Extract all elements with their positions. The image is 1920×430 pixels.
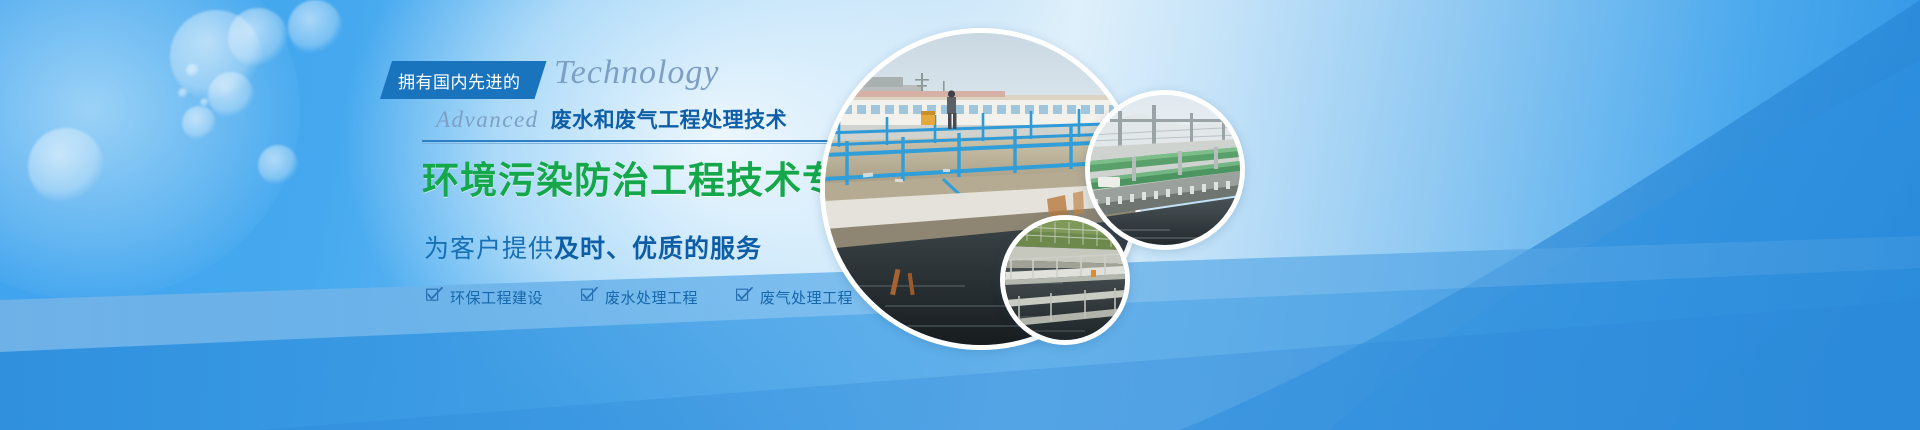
page-title: 环境污染防治工程技术专业顾问: [422, 150, 842, 204]
sub-headline-strong: 及时、优质的服务: [554, 235, 762, 263]
feature-list: 环保工程建设 废水处理工程 废气处理工程: [426, 287, 842, 308]
tagline-row: 拥有国内先进的 Technology: [372, 58, 842, 102]
photo-aeration-basin: [1000, 215, 1130, 345]
hero-banner: 拥有国内先进的 Technology Advanced 废水和废气工程处理技术 …: [0, 0, 1920, 430]
tagline-label: 拥有国内先进的: [398, 68, 521, 93]
technology-script-word: Technology: [554, 54, 720, 92]
advanced-script-word: Advanced: [436, 107, 539, 133]
list-item[interactable]: 废水处理工程: [581, 287, 698, 308]
divider: [422, 140, 842, 144]
banner-text-block: 拥有国内先进的 Technology Advanced 废水和废气工程处理技术 …: [372, 58, 842, 308]
advanced-row: Advanced 废水和废气工程处理技术: [372, 104, 842, 140]
list-item-label: 废水处理工程: [605, 287, 698, 308]
list-item[interactable]: 环保工程建设: [426, 287, 543, 308]
check-icon: [426, 287, 443, 307]
list-item[interactable]: 废气处理工程: [736, 287, 853, 308]
sub-headline: 为客户提供及时、优质的服务: [424, 229, 842, 265]
advanced-subtitle: 废水和废气工程处理技术: [551, 104, 788, 134]
list-item-label: 环保工程建设: [450, 287, 543, 308]
sub-headline-normal: 为客户提供: [424, 235, 554, 263]
photo-pipe-gallery: [1085, 90, 1245, 250]
list-item-label: 废气处理工程: [760, 287, 853, 308]
check-icon: [736, 287, 753, 307]
tagline-ribbon: 拥有国内先进的: [380, 61, 547, 99]
check-icon: [581, 287, 598, 307]
